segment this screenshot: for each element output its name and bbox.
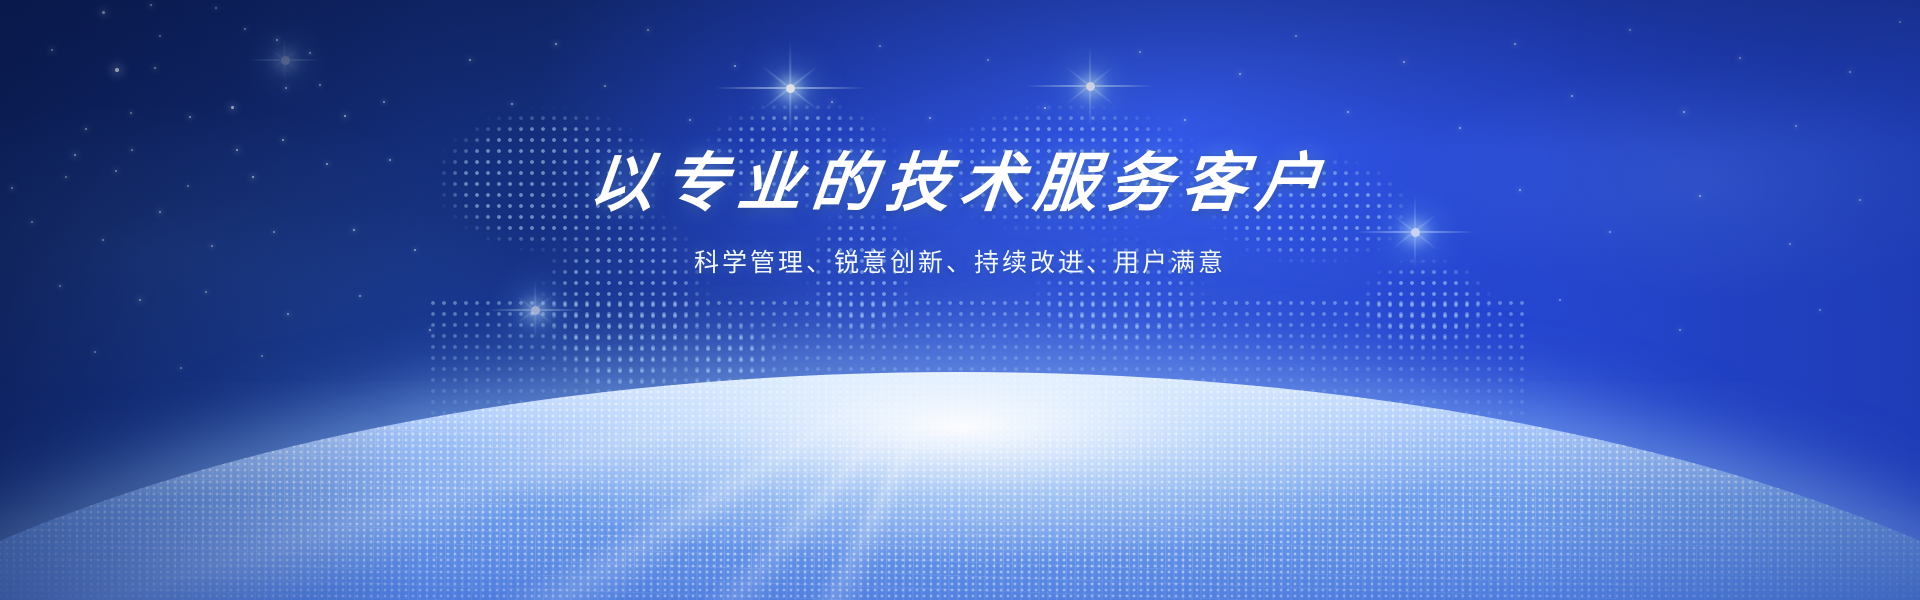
star-dot <box>1629 29 1631 31</box>
star-dot <box>159 35 161 37</box>
star-dot <box>276 39 278 41</box>
star-dot <box>205 291 207 293</box>
banner-text-block: 以专业的技术服务客户 科学管理、锐意创新、持续改进、用户满意 <box>0 150 1920 279</box>
star-dot <box>1795 125 1797 127</box>
star-dot <box>555 43 557 45</box>
star-dot <box>154 67 156 69</box>
star-dot <box>51 49 54 52</box>
star-dot <box>1739 57 1741 59</box>
star-dot <box>1849 71 1851 73</box>
star-dot <box>1683 111 1686 114</box>
star-dot <box>383 101 385 103</box>
star-dot <box>1514 43 1516 45</box>
star-dot <box>139 299 142 302</box>
star-dot <box>115 68 119 72</box>
star-dot <box>879 45 881 47</box>
star-dot <box>319 84 321 86</box>
star-dot <box>189 116 191 118</box>
star-dot <box>287 313 289 315</box>
flare-ray <box>284 38 286 81</box>
star-dot <box>1679 329 1681 331</box>
star-dot <box>1139 51 1141 53</box>
flare-ray <box>271 49 298 71</box>
flare-core <box>281 56 290 65</box>
star-dot <box>1571 95 1573 97</box>
star-dot <box>1295 35 1297 37</box>
star-dot <box>85 128 87 130</box>
star-dot <box>215 7 217 9</box>
star-dot <box>359 295 361 297</box>
hero-banner: 以专业的技术服务客户 科学管理、锐意创新、持续改进、用户满意 <box>0 0 1920 600</box>
star-dot <box>130 112 132 114</box>
flare-ray <box>272 50 298 71</box>
banner-headline: 以专业的技术服务客户 <box>0 150 1920 217</box>
star-dot <box>261 355 263 357</box>
star-dot <box>344 115 347 118</box>
star-dot <box>1899 21 1901 23</box>
star-dot <box>285 87 287 89</box>
banner-subtitle: 科学管理、锐意创新、持续改进、用户满意 <box>0 243 1920 279</box>
aerial-city-grid <box>0 372 1920 600</box>
star-dot <box>647 29 649 31</box>
star-dot <box>150 4 152 6</box>
lens-flare-star <box>250 25 320 95</box>
earth-horizon <box>0 372 1920 600</box>
star-dot <box>282 139 284 141</box>
star-dot <box>94 351 96 353</box>
star-dot <box>59 285 61 287</box>
star-dot <box>244 28 246 30</box>
star-dot <box>309 52 311 54</box>
flare-ray <box>250 59 320 61</box>
star-dot <box>1559 299 1561 301</box>
star-dot <box>102 11 105 14</box>
star-dot <box>180 367 182 369</box>
star-dot <box>231 106 234 109</box>
star-dot <box>1819 309 1821 311</box>
